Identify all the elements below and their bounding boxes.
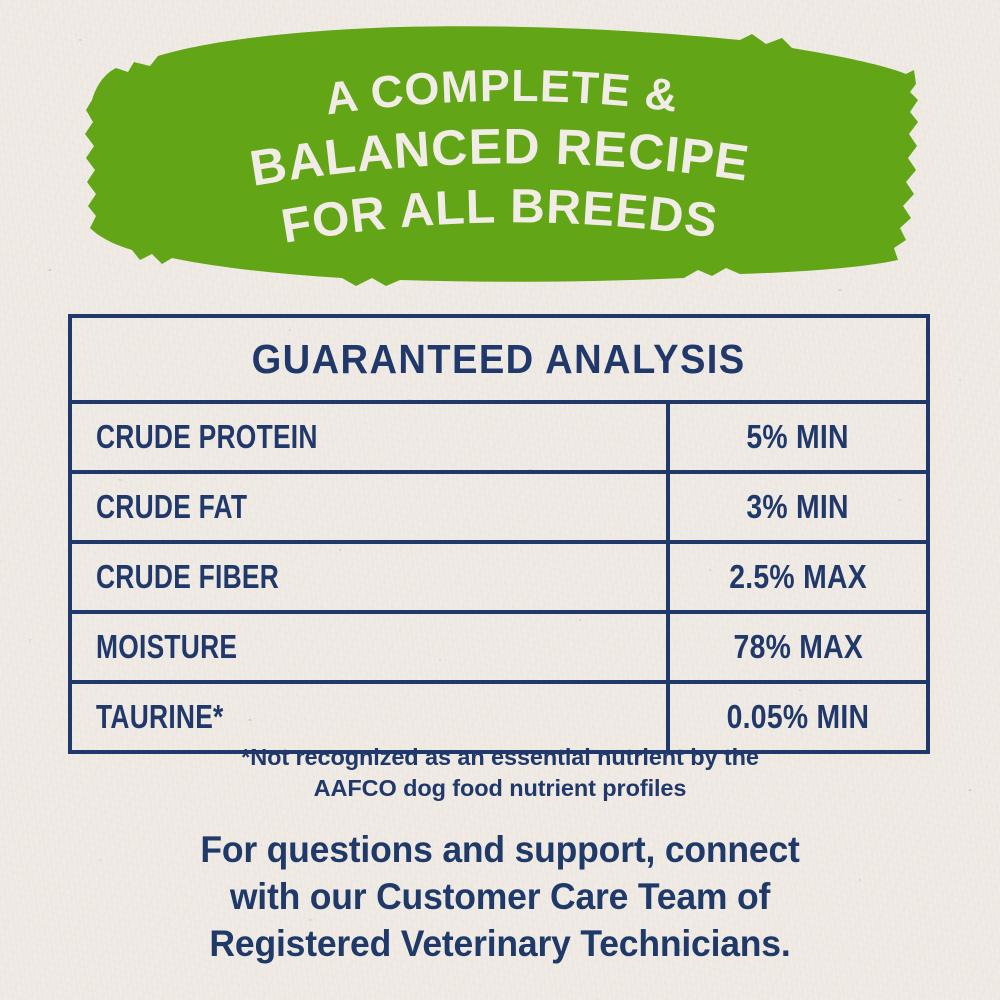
support-line-1: For questions and support, connect (68, 826, 932, 873)
aafco-footnote: *Not recognized as an essential nutrient… (60, 742, 940, 804)
table-cell-amount: 5% MIN (670, 404, 926, 470)
table-title-row: GUARANTEED ANALYSIS (72, 318, 926, 404)
amount-value: 78% MAX (733, 628, 863, 666)
table-cell-amount: 2.5% MAX (670, 544, 926, 610)
footnote-line-1: *Not recognized as an essential nutrient… (60, 742, 940, 773)
nutrient-label: CRUDE FIBER (96, 558, 279, 596)
amount-value: 3% MIN (747, 488, 849, 526)
table-row: CRUDE FIBER 2.5% MAX (72, 544, 926, 614)
nutrient-label: TAURINE* (96, 698, 224, 736)
amount-value: 5% MIN (747, 418, 849, 456)
customer-support-message: For questions and support, connect with … (50, 826, 950, 967)
nutrient-label: CRUDE PROTEIN (96, 418, 318, 456)
table-row: TAURINE* 0.05% MIN (72, 684, 926, 750)
table-cell-amount: 3% MIN (670, 474, 926, 540)
table-cell-nutrient: CRUDE FAT (72, 474, 670, 540)
table-row: MOISTURE 78% MAX (72, 614, 926, 684)
table-row: CRUDE FAT 3% MIN (72, 474, 926, 544)
amount-value: 0.05% MIN (727, 698, 870, 736)
amount-value: 2.5% MAX (729, 558, 867, 596)
footnote-line-2: AAFCO dog food nutrient profiles (60, 773, 940, 804)
page-title: GUARANTEED ANALYSIS (252, 336, 746, 383)
table-cell-nutrient: TAURINE* (72, 684, 670, 750)
nutrient-label: CRUDE FAT (96, 488, 247, 526)
table-row: CRUDE PROTEIN 5% MIN (72, 404, 926, 474)
green-brush-banner: A COMPLETE & BALANCED RECIPE FOR ALL BRE… (0, 0, 1000, 300)
table-cell-amount: 78% MAX (670, 614, 926, 680)
nutrient-label: MOISTURE (96, 628, 237, 666)
guaranteed-analysis-table: GUARANTEED ANALYSIS CRUDE PROTEIN 5% MIN… (68, 314, 930, 754)
table-cell-amount: 0.05% MIN (670, 684, 926, 750)
table-cell-nutrient: CRUDE PROTEIN (72, 404, 670, 470)
table-cell-nutrient: MOISTURE (72, 614, 670, 680)
support-line-2: with our Customer Care Team of (68, 873, 932, 920)
support-line-3: Registered Veterinary Technicians. (68, 920, 932, 967)
table-cell-nutrient: CRUDE FIBER (72, 544, 670, 610)
